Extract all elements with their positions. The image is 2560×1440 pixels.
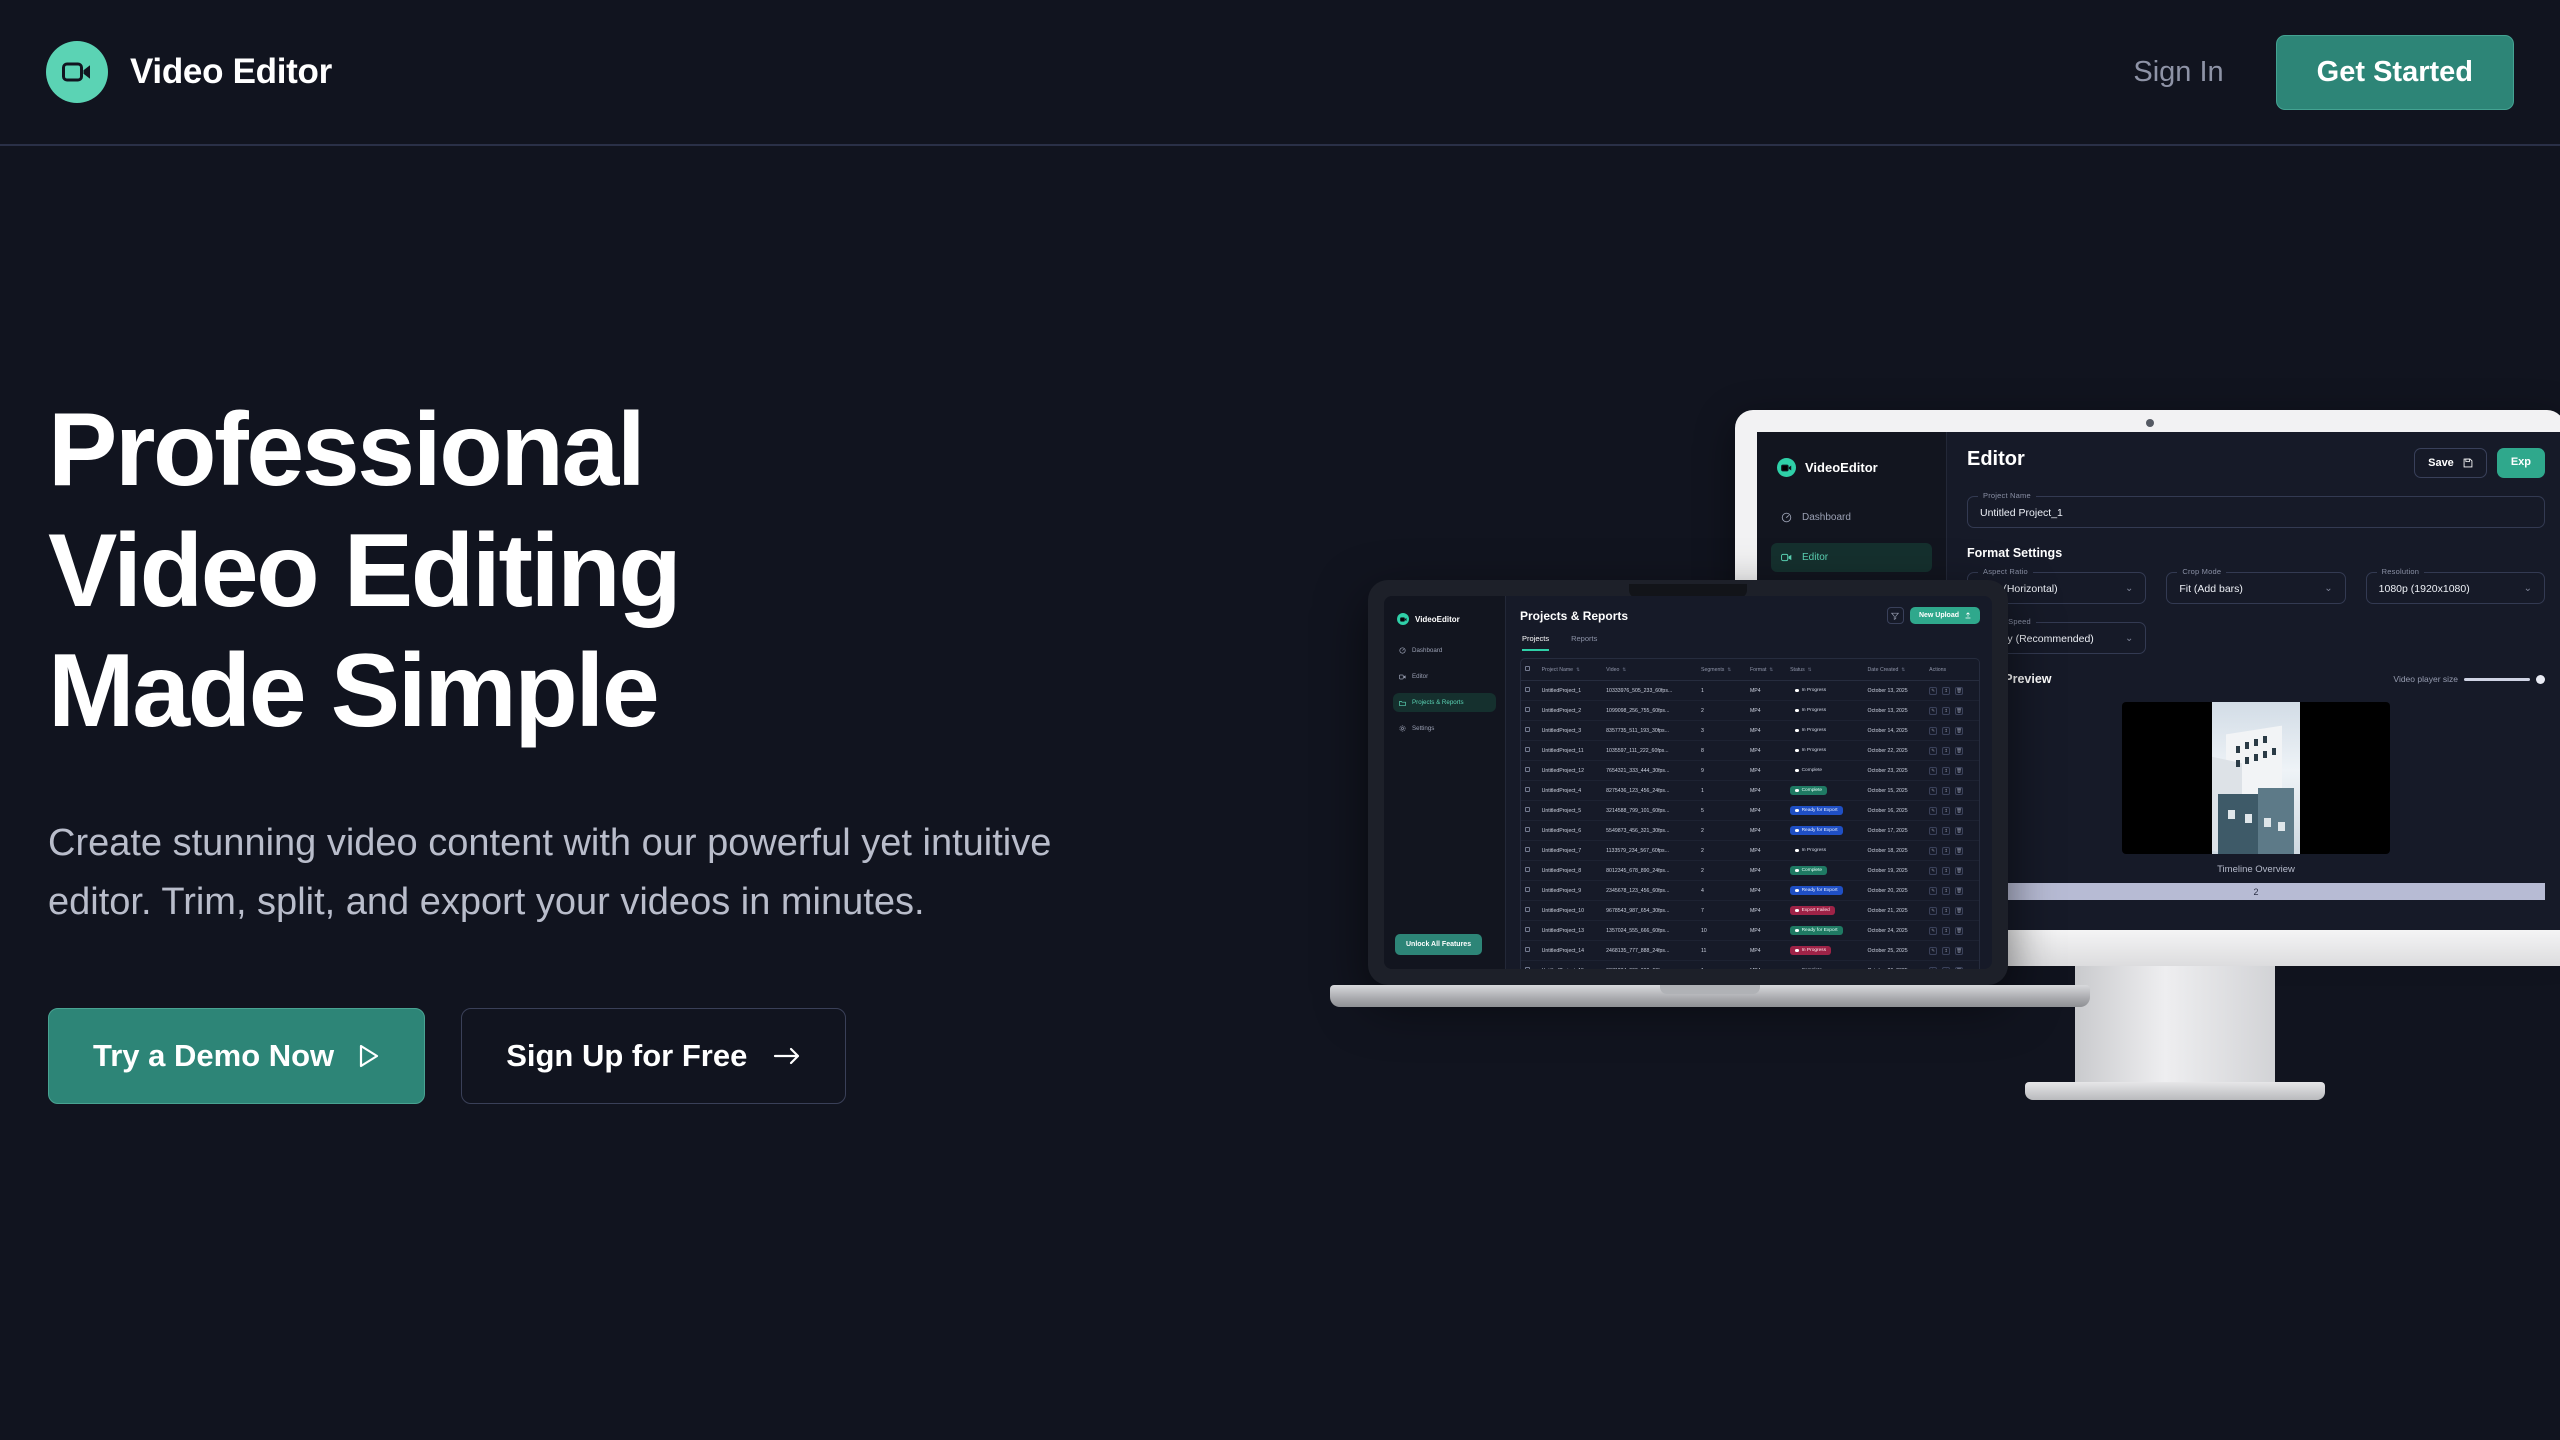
status-badge: Ready for Export bbox=[1790, 886, 1843, 895]
status-label: Export Failed bbox=[1802, 908, 1830, 913]
sidebar-item-dashboard[interactable]: Dashboard bbox=[1393, 641, 1496, 660]
table-row[interactable]: UntitledProject_131357024_555_666_60fps.… bbox=[1521, 921, 1979, 941]
delete-icon[interactable]: 🗑 bbox=[1955, 827, 1963, 835]
play-triangle-icon bbox=[358, 1044, 380, 1068]
cell-format: MP4 bbox=[1746, 841, 1786, 861]
sidebar-item-label: Editor bbox=[1412, 673, 1428, 680]
cell-project-name: UntitledProject_13 bbox=[1538, 921, 1603, 941]
try-demo-button[interactable]: Try a Demo Now bbox=[48, 1008, 425, 1104]
delete-icon[interactable]: 🗑 bbox=[1955, 707, 1963, 715]
export-icon[interactable]: ↥ bbox=[1942, 747, 1950, 755]
crop-mode-label: Crop Mode bbox=[2177, 567, 2226, 576]
cell-segments: 2 bbox=[1697, 841, 1746, 861]
projects-header: Projects & Reports New Upload bbox=[1520, 607, 1980, 624]
cell-video: 7654321_333_444_30fps... bbox=[1602, 761, 1697, 781]
edit-icon[interactable]: ✎ bbox=[1929, 947, 1937, 955]
row-checkbox[interactable] bbox=[1525, 947, 1530, 952]
edit-icon[interactable]: ✎ bbox=[1929, 887, 1937, 895]
video-player[interactable] bbox=[2122, 702, 2390, 854]
delete-icon[interactable]: 🗑 bbox=[1955, 687, 1963, 695]
table-row[interactable]: UntitledProject_127654321_333_444_30fps.… bbox=[1521, 761, 1979, 781]
crop-mode-select[interactable]: Crop Mode Fit (Add bars) ⌄ bbox=[2166, 572, 2345, 604]
export-button[interactable]: Exp bbox=[2497, 448, 2545, 478]
cell-video: 1133579_234_567_60fps... bbox=[1602, 841, 1697, 861]
edit-icon[interactable]: ✎ bbox=[1929, 727, 1937, 735]
sidebar-item-settings[interactable]: Settings bbox=[1393, 719, 1496, 738]
cell-video: 9871234_999_000_60fps... bbox=[1602, 961, 1697, 970]
select-all-checkbox[interactable] bbox=[1525, 666, 1530, 671]
get-started-button[interactable]: Get Started bbox=[2276, 35, 2514, 110]
status-badge: Export Failed bbox=[1790, 906, 1835, 915]
brand-name: Video Editor bbox=[130, 52, 332, 92]
app-brand: VideoEditor bbox=[1397, 613, 1496, 625]
cell-status: Complete bbox=[1786, 781, 1863, 801]
status-label: Complete bbox=[1802, 768, 1823, 773]
floppy-disk-icon bbox=[2463, 458, 2473, 468]
delete-icon[interactable]: 🗑 bbox=[1955, 727, 1963, 735]
gauge-icon bbox=[1781, 512, 1792, 523]
row-checkbox-cell[interactable] bbox=[1521, 741, 1538, 761]
row-checkbox[interactable] bbox=[1525, 747, 1530, 752]
cell-segments: 2 bbox=[1697, 701, 1746, 721]
cell-format: MP4 bbox=[1746, 701, 1786, 721]
status-badge: Ready for Export bbox=[1790, 926, 1843, 935]
edit-icon[interactable]: ✎ bbox=[1929, 707, 1937, 715]
row-checkbox-cell[interactable] bbox=[1521, 721, 1538, 741]
cell-format: MP4 bbox=[1746, 681, 1786, 701]
video-camera-icon bbox=[1781, 553, 1792, 562]
unlock-all-features-button[interactable]: Unlock All Features bbox=[1395, 934, 1482, 955]
cell-date-created: October 20, 2025 bbox=[1864, 881, 1926, 901]
status-label: Ready for Export bbox=[1802, 928, 1838, 933]
cell-segments: 3 bbox=[1697, 721, 1746, 741]
status-dot-icon bbox=[1795, 809, 1799, 813]
delete-icon[interactable]: 🗑 bbox=[1955, 927, 1963, 935]
status-badge: In Progress bbox=[1790, 746, 1831, 755]
hero-subtitle: Create stunning video content with our p… bbox=[48, 814, 1118, 933]
table-row[interactable]: UntitledProject_111035597_111_222_60fps.… bbox=[1521, 741, 1979, 761]
export-icon[interactable]: ↥ bbox=[1942, 967, 1950, 970]
status-label: In Progress bbox=[1802, 948, 1827, 953]
cell-actions: ✎↥🗑 bbox=[1925, 881, 1979, 901]
cell-format: MP4 bbox=[1746, 861, 1786, 881]
status-dot-icon bbox=[1795, 709, 1799, 713]
cell-segments: 2 bbox=[1697, 821, 1746, 841]
cell-video: 2468135_777_888_24fps... bbox=[1602, 941, 1697, 961]
row-checkbox-cell[interactable] bbox=[1521, 701, 1538, 721]
chevron-down-icon: ⌄ bbox=[2324, 584, 2332, 594]
table-row[interactable]: UntitledProject_65549873_456_321_30fps..… bbox=[1521, 821, 1979, 841]
status-badge: Complete bbox=[1790, 766, 1827, 775]
col-video[interactable]: Video⇅ bbox=[1602, 659, 1697, 681]
cell-project-name: UntitledProject_4 bbox=[1538, 781, 1603, 801]
status-dot-icon bbox=[1795, 729, 1799, 733]
cell-video: 8012345_678_890_24fps... bbox=[1602, 861, 1697, 881]
col-segments[interactable]: Segments⇅ bbox=[1697, 659, 1746, 681]
table-row[interactable]: UntitledProject_109678543_987_654_30fps.… bbox=[1521, 901, 1979, 921]
status-badge: Ready for Export bbox=[1790, 826, 1843, 835]
cell-video: 8275436_123_456_24fps... bbox=[1602, 781, 1697, 801]
cell-actions: ✎↥🗑 bbox=[1925, 741, 1979, 761]
cell-status: Ready for Export bbox=[1786, 881, 1863, 901]
tab-projects[interactable]: Projects bbox=[1522, 634, 1549, 651]
app-brand: VideoEditor bbox=[1777, 458, 1932, 477]
table-row[interactable]: UntitledProject_88012345_678_890_24fps..… bbox=[1521, 861, 1979, 881]
cell-actions: ✎↥🗑 bbox=[1925, 801, 1979, 821]
monitor-stand-foot bbox=[2025, 1082, 2325, 1100]
new-upload-button[interactable]: New Upload bbox=[1910, 607, 1980, 624]
row-checkbox-cell[interactable] bbox=[1521, 841, 1538, 861]
sign-up-label: Sign Up for Free bbox=[506, 1038, 747, 1074]
editor-page-title: Editor bbox=[1967, 448, 2025, 471]
cell-format: MP4 bbox=[1746, 821, 1786, 841]
video-player-size-slider[interactable]: Video player size bbox=[2393, 674, 2545, 684]
chevron-down-icon: ⌄ bbox=[2125, 584, 2133, 594]
cell-actions: ✎↥🗑 bbox=[1925, 961, 1979, 970]
cell-video: 3214588_799_101_60fps... bbox=[1602, 801, 1697, 821]
cell-actions: ✎↥🗑 bbox=[1925, 921, 1979, 941]
projects-table: Project Name⇅ Video⇅ Segments⇅ Format⇅ S… bbox=[1521, 659, 1979, 969]
cell-status: Export Failed bbox=[1786, 901, 1863, 921]
chevron-down-icon: ⌄ bbox=[2524, 584, 2532, 594]
projects-page-title: Projects & Reports bbox=[1520, 609, 1628, 623]
cell-video: 9678543_987_654_30fps... bbox=[1602, 901, 1697, 921]
row-checkbox-cell[interactable] bbox=[1521, 941, 1538, 961]
edit-icon[interactable]: ✎ bbox=[1929, 967, 1937, 970]
export-icon[interactable]: ↥ bbox=[1942, 767, 1950, 775]
slider-track[interactable] bbox=[2464, 678, 2530, 681]
cell-actions: ✎↥🗑 bbox=[1925, 761, 1979, 781]
row-checkbox[interactable] bbox=[1525, 927, 1530, 932]
col-status[interactable]: Status⇅ bbox=[1786, 659, 1863, 681]
status-dot-icon bbox=[1795, 869, 1799, 873]
export-icon[interactable]: ↥ bbox=[1942, 947, 1950, 955]
timeline-value: 2 bbox=[2253, 887, 2258, 897]
sidebar-item-editor[interactable]: Editor bbox=[1393, 667, 1496, 686]
cell-actions: ✎↥🗑 bbox=[1925, 941, 1979, 961]
cell-date-created: October 21, 2025 bbox=[1864, 901, 1926, 921]
cell-format: MP4 bbox=[1746, 961, 1786, 970]
edit-icon[interactable]: ✎ bbox=[1929, 867, 1937, 875]
resolution-value: 1080p (1920x1080) bbox=[2379, 583, 2470, 595]
sidebar-item-editor[interactable]: Editor bbox=[1771, 543, 1932, 572]
sidebar-item-projects-reports[interactable]: Projects & Reports bbox=[1393, 693, 1496, 712]
delete-icon[interactable]: 🗑 bbox=[1955, 767, 1963, 775]
row-checkbox[interactable] bbox=[1525, 847, 1530, 852]
cell-date-created: October 22, 2025 bbox=[1864, 741, 1926, 761]
row-checkbox[interactable] bbox=[1525, 787, 1530, 792]
cell-format: MP4 bbox=[1746, 941, 1786, 961]
row-checkbox[interactable] bbox=[1525, 807, 1530, 812]
delete-icon[interactable]: 🗑 bbox=[1955, 867, 1963, 875]
cell-project-name: UntitledProject_8 bbox=[1538, 861, 1603, 881]
header-actions: Sign In Get Started bbox=[2133, 35, 2514, 110]
table-row[interactable]: UntitledProject_38357735_511_193_30fps..… bbox=[1521, 721, 1979, 741]
sidebar-item-label: Settings bbox=[1412, 725, 1434, 732]
cell-project-name: UntitledProject_7 bbox=[1538, 841, 1603, 861]
projects-header-actions: New Upload bbox=[1887, 607, 1980, 624]
edit-icon[interactable]: ✎ bbox=[1929, 747, 1937, 755]
status-label: In Progress bbox=[1802, 728, 1827, 733]
sidebar-item-label: Projects & Reports bbox=[1412, 699, 1464, 706]
status-dot-icon bbox=[1795, 849, 1799, 853]
resolution-select[interactable]: Resolution 1080p (1920x1080) ⌄ bbox=[2366, 572, 2545, 604]
save-button[interactable]: Save bbox=[2414, 448, 2487, 478]
export-icon[interactable]: ↥ bbox=[1942, 907, 1950, 915]
video-player-size-label: Video player size bbox=[2393, 674, 2458, 684]
laptop-lid: VideoEditor Dashboard Editor bbox=[1368, 580, 2008, 985]
row-checkbox-cell[interactable] bbox=[1521, 801, 1538, 821]
status-label: Complete bbox=[1802, 868, 1823, 873]
app-brand-name: VideoEditor bbox=[1415, 615, 1460, 624]
status-badge: In Progress bbox=[1790, 946, 1831, 955]
row-checkbox[interactable] bbox=[1525, 907, 1530, 912]
video-camera-icon bbox=[46, 41, 108, 103]
col-project-name[interactable]: Project Name⇅ bbox=[1538, 659, 1603, 681]
cell-segments: 7 bbox=[1697, 901, 1746, 921]
status-dot-icon bbox=[1795, 929, 1799, 933]
cell-segments: 9 bbox=[1697, 761, 1746, 781]
row-checkbox-cell[interactable] bbox=[1521, 901, 1538, 921]
delete-icon[interactable]: 🗑 bbox=[1955, 787, 1963, 795]
export-icon[interactable]: ↥ bbox=[1942, 707, 1950, 715]
cell-actions: ✎↥🗑 bbox=[1925, 681, 1979, 701]
row-checkbox[interactable] bbox=[1525, 827, 1530, 832]
delete-icon[interactable]: 🗑 bbox=[1955, 807, 1963, 815]
export-icon[interactable]: ↥ bbox=[1942, 927, 1950, 935]
edit-icon[interactable]: ✎ bbox=[1929, 787, 1937, 795]
row-checkbox[interactable] bbox=[1525, 687, 1530, 692]
status-label: Complete bbox=[1802, 788, 1823, 793]
brand[interactable]: Video Editor bbox=[46, 41, 332, 103]
sign-up-free-button[interactable]: Sign Up for Free bbox=[461, 1008, 846, 1104]
sign-in-link[interactable]: Sign In bbox=[2133, 56, 2223, 89]
row-checkbox-cell[interactable] bbox=[1521, 781, 1538, 801]
status-dot-icon bbox=[1795, 889, 1799, 893]
cell-actions: ✎↥🗑 bbox=[1925, 841, 1979, 861]
export-icon[interactable]: ↥ bbox=[1942, 727, 1950, 735]
edit-icon[interactable]: ✎ bbox=[1929, 847, 1937, 855]
projects-app: VideoEditor Dashboard Editor bbox=[1384, 596, 1992, 969]
row-checkbox-cell[interactable] bbox=[1521, 961, 1538, 970]
status-dot-icon bbox=[1795, 829, 1799, 833]
delete-icon[interactable]: 🗑 bbox=[1955, 847, 1963, 855]
export-icon[interactable]: ↥ bbox=[1942, 687, 1950, 695]
landing-page: Video Editor Sign In Get Started Profess… bbox=[0, 0, 2560, 1440]
cell-date-created: October 13, 2025 bbox=[1864, 681, 1926, 701]
row-checkbox-cell[interactable] bbox=[1521, 921, 1538, 941]
cell-segments: 5 bbox=[1697, 801, 1746, 821]
cell-segments: 10 bbox=[1697, 921, 1746, 941]
cell-status: In Progress bbox=[1786, 721, 1863, 741]
table-row[interactable]: UntitledProject_48275436_123_456_24fps..… bbox=[1521, 781, 1979, 801]
cell-status: Complete bbox=[1786, 961, 1863, 970]
editor-topbar: Editor Save Exp bbox=[1967, 448, 2545, 478]
row-checkbox-cell[interactable] bbox=[1521, 881, 1538, 901]
cell-project-name: UntitledProject_10 bbox=[1538, 901, 1603, 921]
cell-date-created: October 16, 2025 bbox=[1864, 801, 1926, 821]
edit-icon[interactable]: ✎ bbox=[1929, 927, 1937, 935]
cell-project-name: UntitledProject_11 bbox=[1538, 741, 1603, 761]
cell-project-name: UntitledProject_14 bbox=[1538, 941, 1603, 961]
table-body: UntitledProject_110333976_505_233_60fps.… bbox=[1521, 681, 1979, 970]
resolution-label: Resolution bbox=[2377, 567, 2424, 576]
status-label: Ready for Export bbox=[1802, 808, 1838, 813]
video-camera-icon bbox=[1399, 674, 1406, 680]
monitor-stand-neck bbox=[2075, 966, 2275, 1086]
cell-status: In Progress bbox=[1786, 941, 1863, 961]
delete-icon[interactable]: 🗑 bbox=[1955, 947, 1963, 955]
laptop-base-notch bbox=[1660, 985, 1760, 994]
hero-section: Professional Video Editing Made Simple C… bbox=[48, 390, 1148, 1104]
row-checkbox-cell[interactable] bbox=[1521, 861, 1538, 881]
projects-tabs: Projects Reports bbox=[1522, 634, 1980, 651]
cell-format: MP4 bbox=[1746, 801, 1786, 821]
cell-date-created: October 15, 2025 bbox=[1864, 781, 1926, 801]
status-badge: In Progress bbox=[1790, 726, 1831, 735]
row-checkbox[interactable] bbox=[1525, 887, 1530, 892]
project-name-field[interactable]: Project Name Untitled Project_1 bbox=[1967, 496, 2545, 528]
table-row[interactable]: UntitledProject_159871234_999_000_60fps.… bbox=[1521, 961, 1979, 970]
folder-icon bbox=[1399, 700, 1406, 706]
status-dot-icon bbox=[1795, 749, 1799, 753]
gauge-icon bbox=[1399, 647, 1406, 654]
delete-icon[interactable]: 🗑 bbox=[1955, 887, 1963, 895]
status-label: In Progress bbox=[1802, 688, 1827, 693]
page-title: Professional Video Editing Made Simple bbox=[48, 390, 1148, 752]
cell-project-name: UntitledProject_9 bbox=[1538, 881, 1603, 901]
status-label: In Progress bbox=[1802, 848, 1827, 853]
video-frame-image bbox=[2212, 702, 2300, 854]
cell-format: MP4 bbox=[1746, 741, 1786, 761]
table-header-row: Project Name⇅ Video⇅ Segments⇅ Format⇅ S… bbox=[1521, 659, 1979, 681]
cell-project-name: UntitledProject_6 bbox=[1538, 821, 1603, 841]
arrow-right-icon bbox=[773, 1046, 801, 1066]
hero-cta-group: Try a Demo Now Sign Up for Free bbox=[48, 1008, 1148, 1104]
status-label: Ready for Export bbox=[1802, 888, 1838, 893]
cell-status: In Progress bbox=[1786, 841, 1863, 861]
cell-project-name: UntitledProject_15 bbox=[1538, 961, 1603, 970]
export-icon[interactable]: ↥ bbox=[1942, 847, 1950, 855]
edit-icon[interactable]: ✎ bbox=[1929, 807, 1937, 815]
delete-icon[interactable]: 🗑 bbox=[1955, 907, 1963, 915]
table-row[interactable]: UntitledProject_21099098_256_755_60fps..… bbox=[1521, 701, 1979, 721]
table-row[interactable]: UntitledProject_53214588_799_101_60fps..… bbox=[1521, 801, 1979, 821]
cell-format: MP4 bbox=[1746, 721, 1786, 741]
status-label: In Progress bbox=[1802, 708, 1827, 713]
export-icon[interactable]: ↥ bbox=[1942, 867, 1950, 875]
crop-mode-value: Fit (Add bars) bbox=[2179, 583, 2243, 595]
sort-icon: ⇅ bbox=[1576, 667, 1580, 672]
status-dot-icon bbox=[1795, 789, 1799, 793]
cell-actions: ✎↥🗑 bbox=[1925, 901, 1979, 921]
cell-format: MP4 bbox=[1746, 921, 1786, 941]
cell-status: Ready for Export bbox=[1786, 801, 1863, 821]
status-badge: In Progress bbox=[1790, 846, 1831, 855]
cell-project-name: UntitledProject_2 bbox=[1538, 701, 1603, 721]
filter-icon[interactable] bbox=[1887, 607, 1904, 624]
export-icon[interactable]: ↥ bbox=[1942, 887, 1950, 895]
table-row[interactable]: UntitledProject_110333976_505_233_60fps.… bbox=[1521, 681, 1979, 701]
laptop-screen: VideoEditor Dashboard Editor bbox=[1384, 596, 1992, 969]
export-icon[interactable]: ↥ bbox=[1942, 827, 1950, 835]
row-checkbox-cell[interactable] bbox=[1521, 821, 1538, 841]
cell-date-created: October 24, 2025 bbox=[1864, 921, 1926, 941]
cell-segments: 1 bbox=[1697, 781, 1746, 801]
export-icon[interactable]: ↥ bbox=[1942, 807, 1950, 815]
cell-actions: ✎↥🗑 bbox=[1925, 781, 1979, 801]
table-head: Project Name⇅ Video⇅ Segments⇅ Format⇅ S… bbox=[1521, 659, 1979, 681]
gear-icon bbox=[1399, 725, 1406, 732]
status-badge: In Progress bbox=[1790, 686, 1831, 695]
status-badge: Complete bbox=[1790, 866, 1827, 875]
edit-icon[interactable]: ✎ bbox=[1929, 687, 1937, 695]
sort-icon: ⇅ bbox=[1808, 667, 1812, 672]
video-camera-icon bbox=[1397, 613, 1409, 625]
col-select[interactable] bbox=[1521, 659, 1538, 681]
table-row[interactable]: UntitledProject_142468135_777_888_24fps.… bbox=[1521, 941, 1979, 961]
status-badge: Complete bbox=[1790, 966, 1827, 969]
site-header: Video Editor Sign In Get Started bbox=[0, 0, 2560, 146]
cell-segments: 4 bbox=[1697, 881, 1746, 901]
delete-icon[interactable]: 🗑 bbox=[1955, 967, 1963, 970]
cell-status: Complete bbox=[1786, 761, 1863, 781]
row-checkbox[interactable] bbox=[1525, 767, 1530, 772]
cell-project-name: UntitledProject_3 bbox=[1538, 721, 1603, 741]
sidebar-item-dashboard[interactable]: Dashboard bbox=[1771, 503, 1932, 532]
row-checkbox-cell[interactable] bbox=[1521, 681, 1538, 701]
cell-status: In Progress bbox=[1786, 741, 1863, 761]
aspect-ratio-label: Aspect Ratio bbox=[1978, 567, 2033, 576]
cell-actions: ✎↥🗑 bbox=[1925, 721, 1979, 741]
projects-sidebar: VideoEditor Dashboard Editor bbox=[1384, 596, 1506, 969]
projects-table-wrap: Project Name⇅ Video⇅ Segments⇅ Format⇅ S… bbox=[1520, 658, 1980, 969]
delete-icon[interactable]: 🗑 bbox=[1955, 747, 1963, 755]
sort-icon: ⇅ bbox=[1622, 667, 1626, 672]
col-format[interactable]: Format⇅ bbox=[1746, 659, 1786, 681]
cell-format: MP4 bbox=[1746, 781, 1786, 801]
editor-actions: Save Exp bbox=[2414, 448, 2545, 478]
cell-status: Complete bbox=[1786, 861, 1863, 881]
cell-segments: 11 bbox=[1697, 941, 1746, 961]
table-row[interactable]: UntitledProject_92345678_123_456_60fps..… bbox=[1521, 881, 1979, 901]
laptop-mockup: VideoEditor Dashboard Editor bbox=[1330, 580, 2090, 1050]
cell-video: 10333976_505_233_60fps... bbox=[1602, 681, 1697, 701]
cell-date-created: October 23, 2025 bbox=[1864, 761, 1926, 781]
cell-video: 1357024_555_666_60fps... bbox=[1602, 921, 1697, 941]
try-demo-label: Try a Demo Now bbox=[93, 1038, 334, 1074]
col-date-created[interactable]: Date Created⇅ bbox=[1864, 659, 1926, 681]
slider-knob[interactable] bbox=[2536, 675, 2545, 684]
edit-icon[interactable]: ✎ bbox=[1929, 827, 1937, 835]
cell-status: In Progress bbox=[1786, 701, 1863, 721]
row-checkbox[interactable] bbox=[1525, 727, 1530, 732]
cell-status: Ready for Export bbox=[1786, 921, 1863, 941]
save-label: Save bbox=[2428, 457, 2454, 469]
edit-icon[interactable]: ✎ bbox=[1929, 767, 1937, 775]
row-checkbox-cell[interactable] bbox=[1521, 761, 1538, 781]
status-dot-icon bbox=[1795, 909, 1799, 913]
export-icon[interactable]: ↥ bbox=[1942, 787, 1950, 795]
row-checkbox[interactable] bbox=[1525, 967, 1530, 969]
tab-reports[interactable]: Reports bbox=[1571, 634, 1597, 651]
status-dot-icon bbox=[1795, 949, 1799, 953]
table-row[interactable]: UntitledProject_71133579_234_567_60fps..… bbox=[1521, 841, 1979, 861]
new-upload-label: New Upload bbox=[1919, 612, 1959, 619]
row-checkbox[interactable] bbox=[1525, 707, 1530, 712]
row-checkbox[interactable] bbox=[1525, 867, 1530, 872]
edit-icon[interactable]: ✎ bbox=[1929, 907, 1937, 915]
